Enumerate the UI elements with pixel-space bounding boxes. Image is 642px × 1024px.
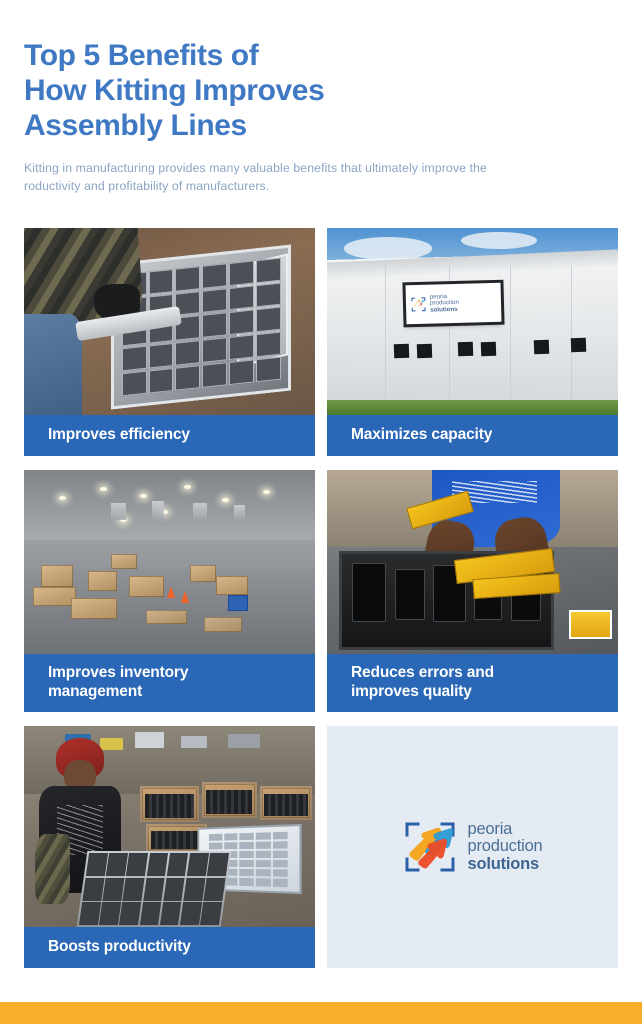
logo-panel: peoria production solutions <box>327 726 618 968</box>
logo-line-production: production <box>467 838 542 855</box>
logo-wordmark: peoria production solutions <box>467 821 542 872</box>
peoria-production-solutions-logo: peoria production solutions <box>402 819 542 875</box>
logo-line-solutions: solutions <box>467 856 542 873</box>
kitting-bins-photo <box>24 726 315 927</box>
building-logo-sign: peoria production solutions <box>405 283 501 325</box>
sign-logo-line3: solutions <box>430 307 459 314</box>
benefit-label: Improves efficiency <box>24 415 315 456</box>
benefit-card-boosts-productivity[interactable]: Boosts productivity <box>24 726 315 968</box>
page-subtitle: Kitting in manufacturing provides many v… <box>24 159 494 195</box>
benefit-label: Maximizes capacity <box>327 415 618 456</box>
header: Top 5 Benefits of How Kitting Improves A… <box>24 38 544 196</box>
benefit-card-reduces-errors[interactable]: Reduces errors and improves quality <box>327 470 618 712</box>
benefit-label: Improves inventory management <box>24 654 315 712</box>
warehouse-interior-photo <box>24 470 315 654</box>
benefits-grid: Improves efficiency <box>24 228 618 968</box>
peoria-logo-mark-icon <box>402 819 458 875</box>
building-facade-photo: peoria production solutions <box>327 228 618 415</box>
peoria-logo-mark-icon <box>409 296 426 313</box>
benefit-label: Boosts productivity <box>24 927 315 968</box>
benefit-card-improves-inventory-management[interactable]: Improves inventory management <box>24 470 315 712</box>
benefit-card-improves-efficiency[interactable]: Improves efficiency <box>24 228 315 456</box>
logo-line-peoria: peoria <box>467 821 542 838</box>
sign-logo-words: peoria production solutions <box>429 294 458 314</box>
toolbox-drawer-photo <box>24 228 315 415</box>
benefit-card-maximizes-capacity[interactable]: peoria production solutions Maximizes ca… <box>327 228 618 456</box>
infographic-page: Top 5 Benefits of How Kitting Improves A… <box>0 0 642 1024</box>
tool-case-packing-photo <box>327 470 618 654</box>
benefit-label: Reduces errors and improves quality <box>327 654 618 712</box>
bottom-accent-bar <box>0 1002 642 1024</box>
page-title: Top 5 Benefits of How Kitting Improves A… <box>24 38 544 143</box>
